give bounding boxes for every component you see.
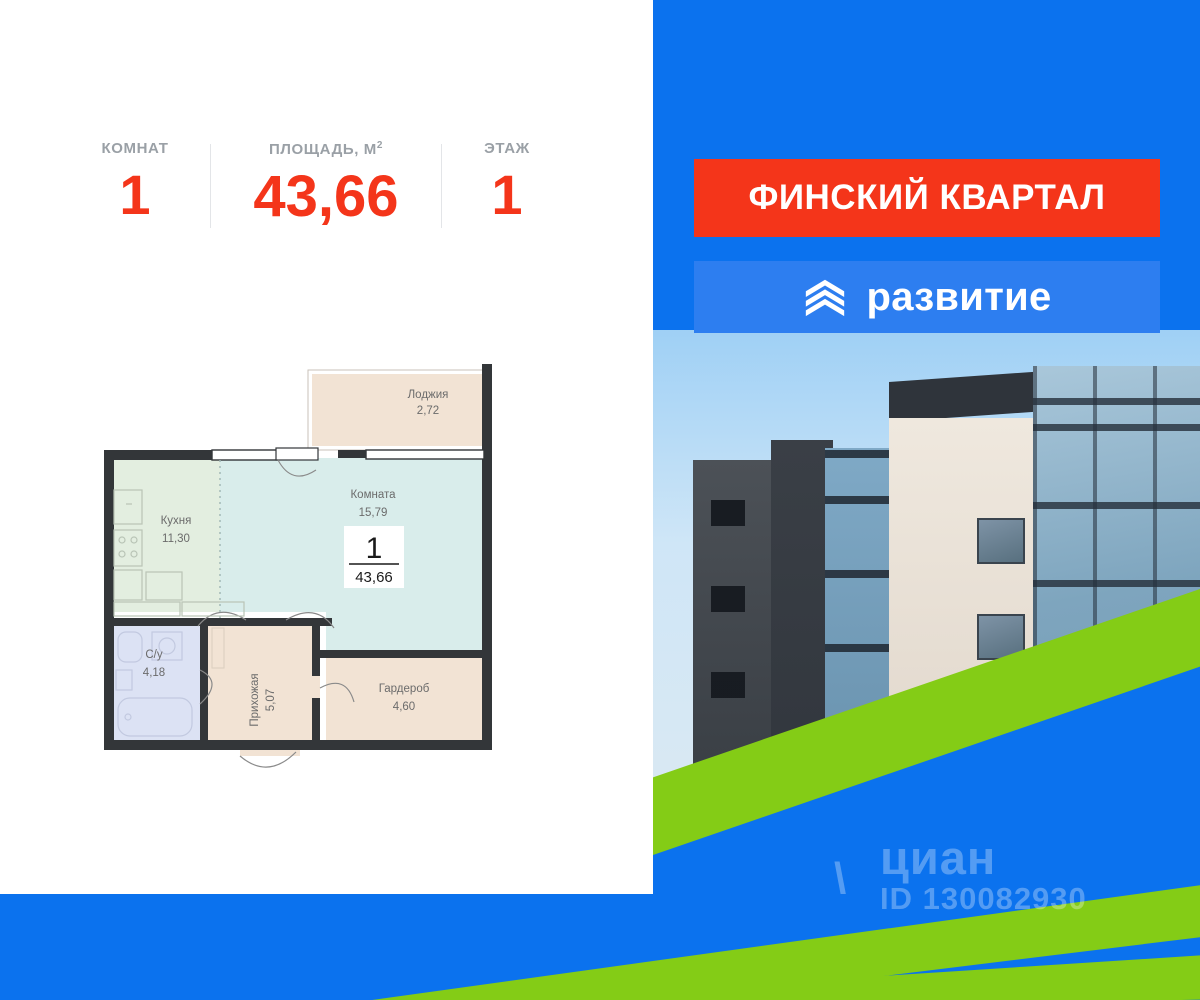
room-fill-hallway (208, 626, 320, 742)
stat-area-label: ПЛОЩАДЬ, М2 (269, 140, 383, 158)
room-fill-loggia (312, 374, 482, 446)
chevrons-up-icon (802, 274, 848, 320)
room-label-kitchen: Кухня (161, 515, 192, 527)
plan-badge: 1 43,66 (344, 526, 404, 588)
room-fill-wardrobe (326, 656, 482, 742)
stats-row: КОМНАТ 1 ПЛОЩАДЬ, М2 43,66 ЭТАЖ 1 (60, 140, 600, 250)
room-area-wardrobe: 4,60 (393, 701, 415, 713)
logo-razvitie[interactable]: развитие (694, 261, 1160, 333)
stat-area: ПЛОЩАДЬ, М2 43,66 (211, 140, 441, 226)
floor-plan[interactable]: Лоджия 2,72 Кухня 11,30 Комната 15,79 С/… (90, 362, 576, 782)
room-area-loggia: 2,72 (417, 405, 439, 417)
floor-plan-svg: Лоджия 2,72 Кухня 11,30 Комната 15,79 С/… (90, 362, 576, 782)
stat-area-label-sup: 2 (377, 140, 383, 151)
stat-floor-value: 1 (491, 167, 522, 223)
room-area-kitchen: 11,30 (162, 533, 190, 545)
room-area-bathroom: 4,18 (143, 667, 165, 679)
room-area-hallway: 5,07 (265, 689, 277, 711)
plan-badge-area: 43,66 (355, 569, 393, 586)
stat-rooms-label: КОМНАТ (102, 140, 169, 157)
room-fill-bathroom (112, 626, 200, 742)
plan-badge-rooms: 1 (366, 532, 383, 565)
logo-finskiy-kvartal[interactable]: ФИНСКИЙ КВАРТАЛ (694, 159, 1160, 237)
logo-finskiy-kvartal-text: ФИНСКИЙ КВАРТАЛ (749, 178, 1106, 218)
listing-card: \ циан ID 130082930 ФИНСКИЙ КВАРТАЛ разв… (0, 0, 1200, 1000)
stat-rooms: КОМНАТ 1 (60, 140, 210, 223)
building-photo (653, 330, 1200, 940)
room-label-bathroom: С/у (145, 649, 163, 661)
facade-window (977, 518, 1025, 564)
room-label-living: Комната (350, 489, 396, 501)
stat-area-value: 43,66 (253, 168, 398, 226)
room-fill-living-lower (326, 612, 482, 652)
logo-razvitie-text: развитие (866, 275, 1051, 320)
room-label-wardrobe: Гардероб (379, 683, 430, 695)
room-label-hallway: Прихожая (249, 673, 261, 726)
building-roof-terrace (889, 372, 1039, 422)
info-card: КОМНАТ 1 ПЛОЩАДЬ, М2 43,66 ЭТАЖ 1 (0, 0, 653, 894)
stat-rooms-value: 1 (119, 167, 150, 223)
stat-floor: ЭТАЖ 1 (442, 140, 572, 223)
stat-area-label-text: ПЛОЩАДЬ, М (269, 141, 377, 158)
stat-floor-label: ЭТАЖ (484, 140, 530, 157)
room-label-loggia: Лоджия (408, 389, 449, 401)
room-area-living: 15,79 (359, 507, 388, 519)
